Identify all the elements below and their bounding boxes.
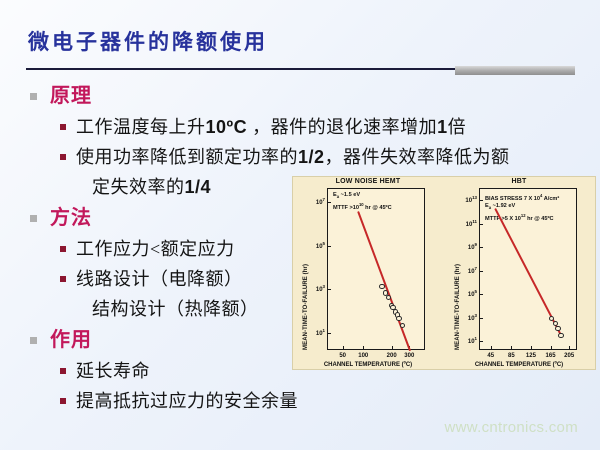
outline-item-label: 使用功率降低到额定功率的1/2，器件失效率降低为额: [76, 142, 510, 172]
y-axis-tick-label: 1011: [459, 219, 477, 228]
x-axis-tick-mark: [491, 346, 492, 350]
x-axis-tick-label: 85: [508, 353, 515, 359]
bullet-square-icon: [60, 276, 66, 282]
x-axis-tick-mark: [343, 346, 344, 350]
data-point: [400, 323, 405, 328]
outline-item-label: 原理: [50, 82, 92, 111]
y-axis-tick-mark: [479, 271, 483, 272]
x-axis-tick-label: 50: [339, 353, 346, 359]
x-axis-tick-label: 165: [546, 353, 556, 359]
chart-panel-low-noise-hemt: LOW NOISE HEMT MEAN-TIME-TO-FAILURE (hr)…: [293, 177, 443, 369]
outline-item-label: 工作应力<额定应力: [76, 234, 235, 264]
bullet-square-icon: [60, 154, 66, 160]
outline-item-level2: 使用功率降低到额定功率的1/2，器件失效率降低为额: [24, 142, 584, 172]
y-axis-tick-label: 109: [459, 242, 477, 251]
outline-item-level2: 提高抵抗过应力的安全余量: [24, 386, 584, 416]
bullet-square-icon: [30, 215, 37, 222]
y-axis-tick-mark: [479, 200, 483, 201]
y-axis-tick-mark: [479, 247, 483, 248]
bullet-square-icon: [30, 337, 37, 344]
y-axis-label: MEAN-TIME-TO-FAILURE (hr): [303, 264, 309, 350]
bullet-square-icon: [30, 93, 37, 100]
x-axis-tick-label: 300: [404, 353, 414, 359]
data-point: [379, 284, 384, 289]
y-axis-tick-mark: [479, 341, 483, 342]
y-axis-tick-mark: [479, 294, 483, 295]
x-axis-tick-label: 45: [487, 353, 494, 359]
chart-annotation: Ea ~1.5 eVMTTF >1010 hr @ 45ºC: [333, 192, 392, 212]
outline-item-label: 方法: [50, 204, 92, 233]
plot-area-left: [327, 188, 425, 350]
y-axis-tick-label: 103: [307, 284, 325, 293]
y-axis-tick-label: 101: [307, 328, 325, 337]
page-title: 微电子器件的降额使用: [28, 26, 268, 56]
bullet-square-icon: [60, 398, 66, 404]
outline-item-label: 提高抵抗过应力的安全余量: [76, 386, 298, 416]
bullet-square-icon: [60, 124, 66, 130]
data-point: [555, 326, 560, 331]
chart-panel-hbt: HBT MEAN-TIME-TO-FAILURE (hr)CHANNEL TEM…: [444, 177, 594, 369]
x-axis-tick-mark: [551, 346, 552, 350]
outline-item-level2: 工作温度每上升10ºC ，器件的退化速率增加1倍: [24, 112, 584, 142]
x-axis-label: CHANNEL TEMPERATURE (ºC): [444, 362, 594, 368]
x-axis-label: CHANNEL TEMPERATURE (ºC): [293, 362, 443, 368]
chart-title-right: HBT: [444, 178, 594, 185]
y-axis-tick-mark: [327, 333, 331, 334]
y-axis-tick-label: 107: [307, 197, 325, 206]
bullet-square-icon: [60, 368, 66, 374]
x-axis-tick-mark: [392, 346, 393, 350]
data-point: [558, 333, 563, 338]
y-axis-tick-mark: [327, 202, 331, 203]
x-axis-tick-mark: [569, 346, 570, 350]
y-axis-tick-mark: [327, 246, 331, 247]
watermark: www.cntronics.com: [445, 419, 578, 436]
chart-title-left: LOW NOISE HEMT: [293, 178, 443, 185]
outline-item-label: 线路设计（电降额）: [76, 264, 243, 294]
outline-item-label: 作用: [50, 326, 92, 355]
reliability-figure: LOW NOISE HEMT MEAN-TIME-TO-FAILURE (hr)…: [292, 176, 596, 370]
x-axis-tick-label: 100: [358, 353, 368, 359]
x-axis-tick-mark: [363, 346, 364, 350]
x-axis-tick-label: 200: [387, 353, 397, 359]
x-axis-tick-label: 205: [564, 353, 574, 359]
y-axis-tick-label: 101: [459, 336, 477, 345]
outline-item-label: 延长寿命: [76, 356, 150, 386]
x-axis-tick-label: 125: [526, 353, 536, 359]
y-axis-tick-mark: [479, 224, 483, 225]
outline-item-level1: 原理: [24, 82, 584, 111]
x-axis-tick-mark: [511, 346, 512, 350]
x-axis-tick-mark: [531, 346, 532, 350]
outline-item-label: 结构设计（热降额）: [92, 294, 259, 324]
y-axis-tick-label: 105: [459, 289, 477, 298]
outline-item-label: 工作温度每上升10ºC ，器件的退化速率增加1倍: [76, 112, 466, 142]
y-axis-tick-label: 105: [307, 241, 325, 250]
outline-item-label: 定失效率的1/4: [92, 172, 211, 202]
y-axis-tick-label: 1013: [459, 195, 477, 204]
title-divider-accent: [455, 66, 575, 75]
bullet-square-icon: [60, 246, 66, 252]
y-axis-tick-mark: [327, 289, 331, 290]
y-axis-tick-label: 103: [459, 313, 477, 322]
y-axis-tick-label: 107: [459, 266, 477, 275]
y-axis-tick-mark: [479, 318, 483, 319]
data-point: [396, 316, 401, 321]
